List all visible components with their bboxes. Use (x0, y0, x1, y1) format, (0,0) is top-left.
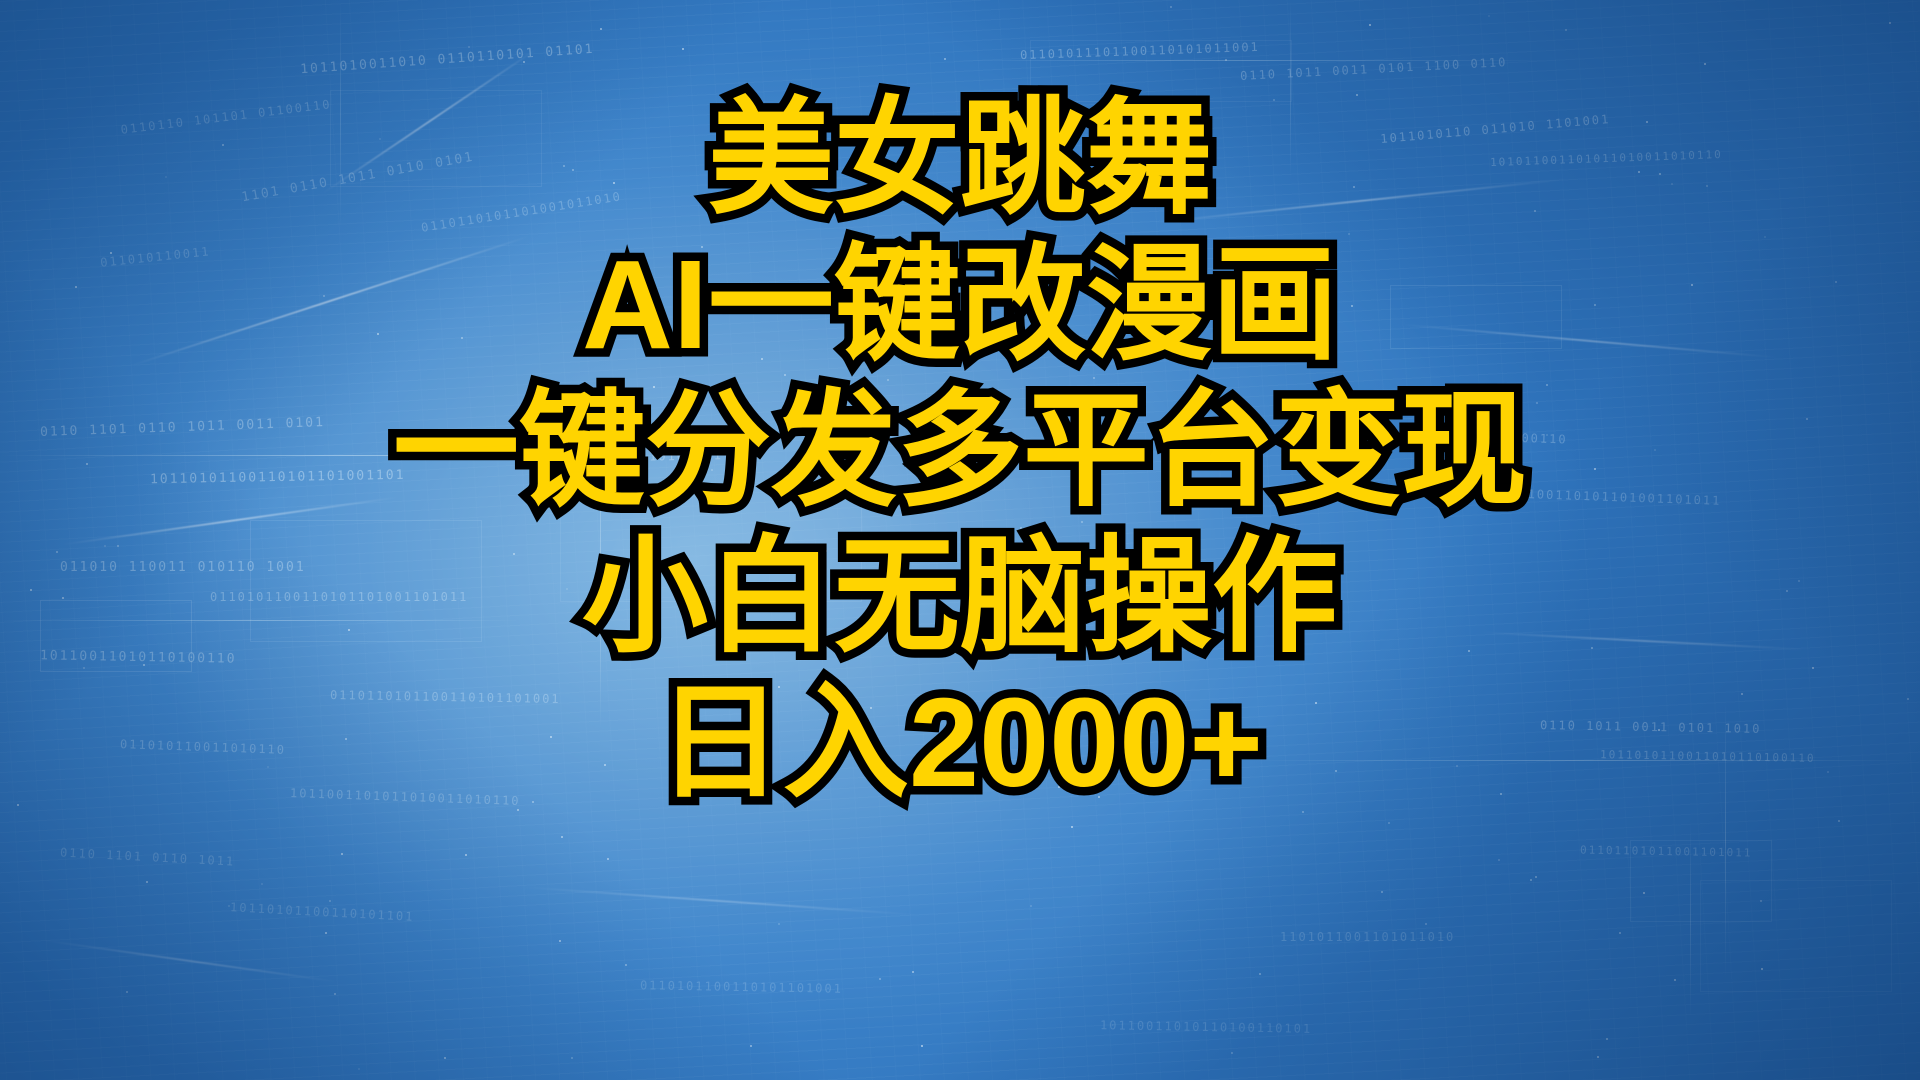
headline-line-3: 一键分发多平台变现 (393, 378, 1527, 524)
headline-line-1: 美女跳舞 (708, 86, 1212, 232)
headline-line-5: 日入2000+ (657, 670, 1263, 816)
headline-block: 美女跳舞 AI一键改漫画 一键分发多平台变现 小白无脑操作 日入2000+ (0, 86, 1920, 816)
thumbnail-canvas: 1011010011010 0110110101 011010110101110… (0, 0, 1920, 1080)
headline-line-4: 小白无脑操作 (582, 524, 1338, 670)
headline-line-2: AI一键改漫画 (582, 232, 1338, 378)
